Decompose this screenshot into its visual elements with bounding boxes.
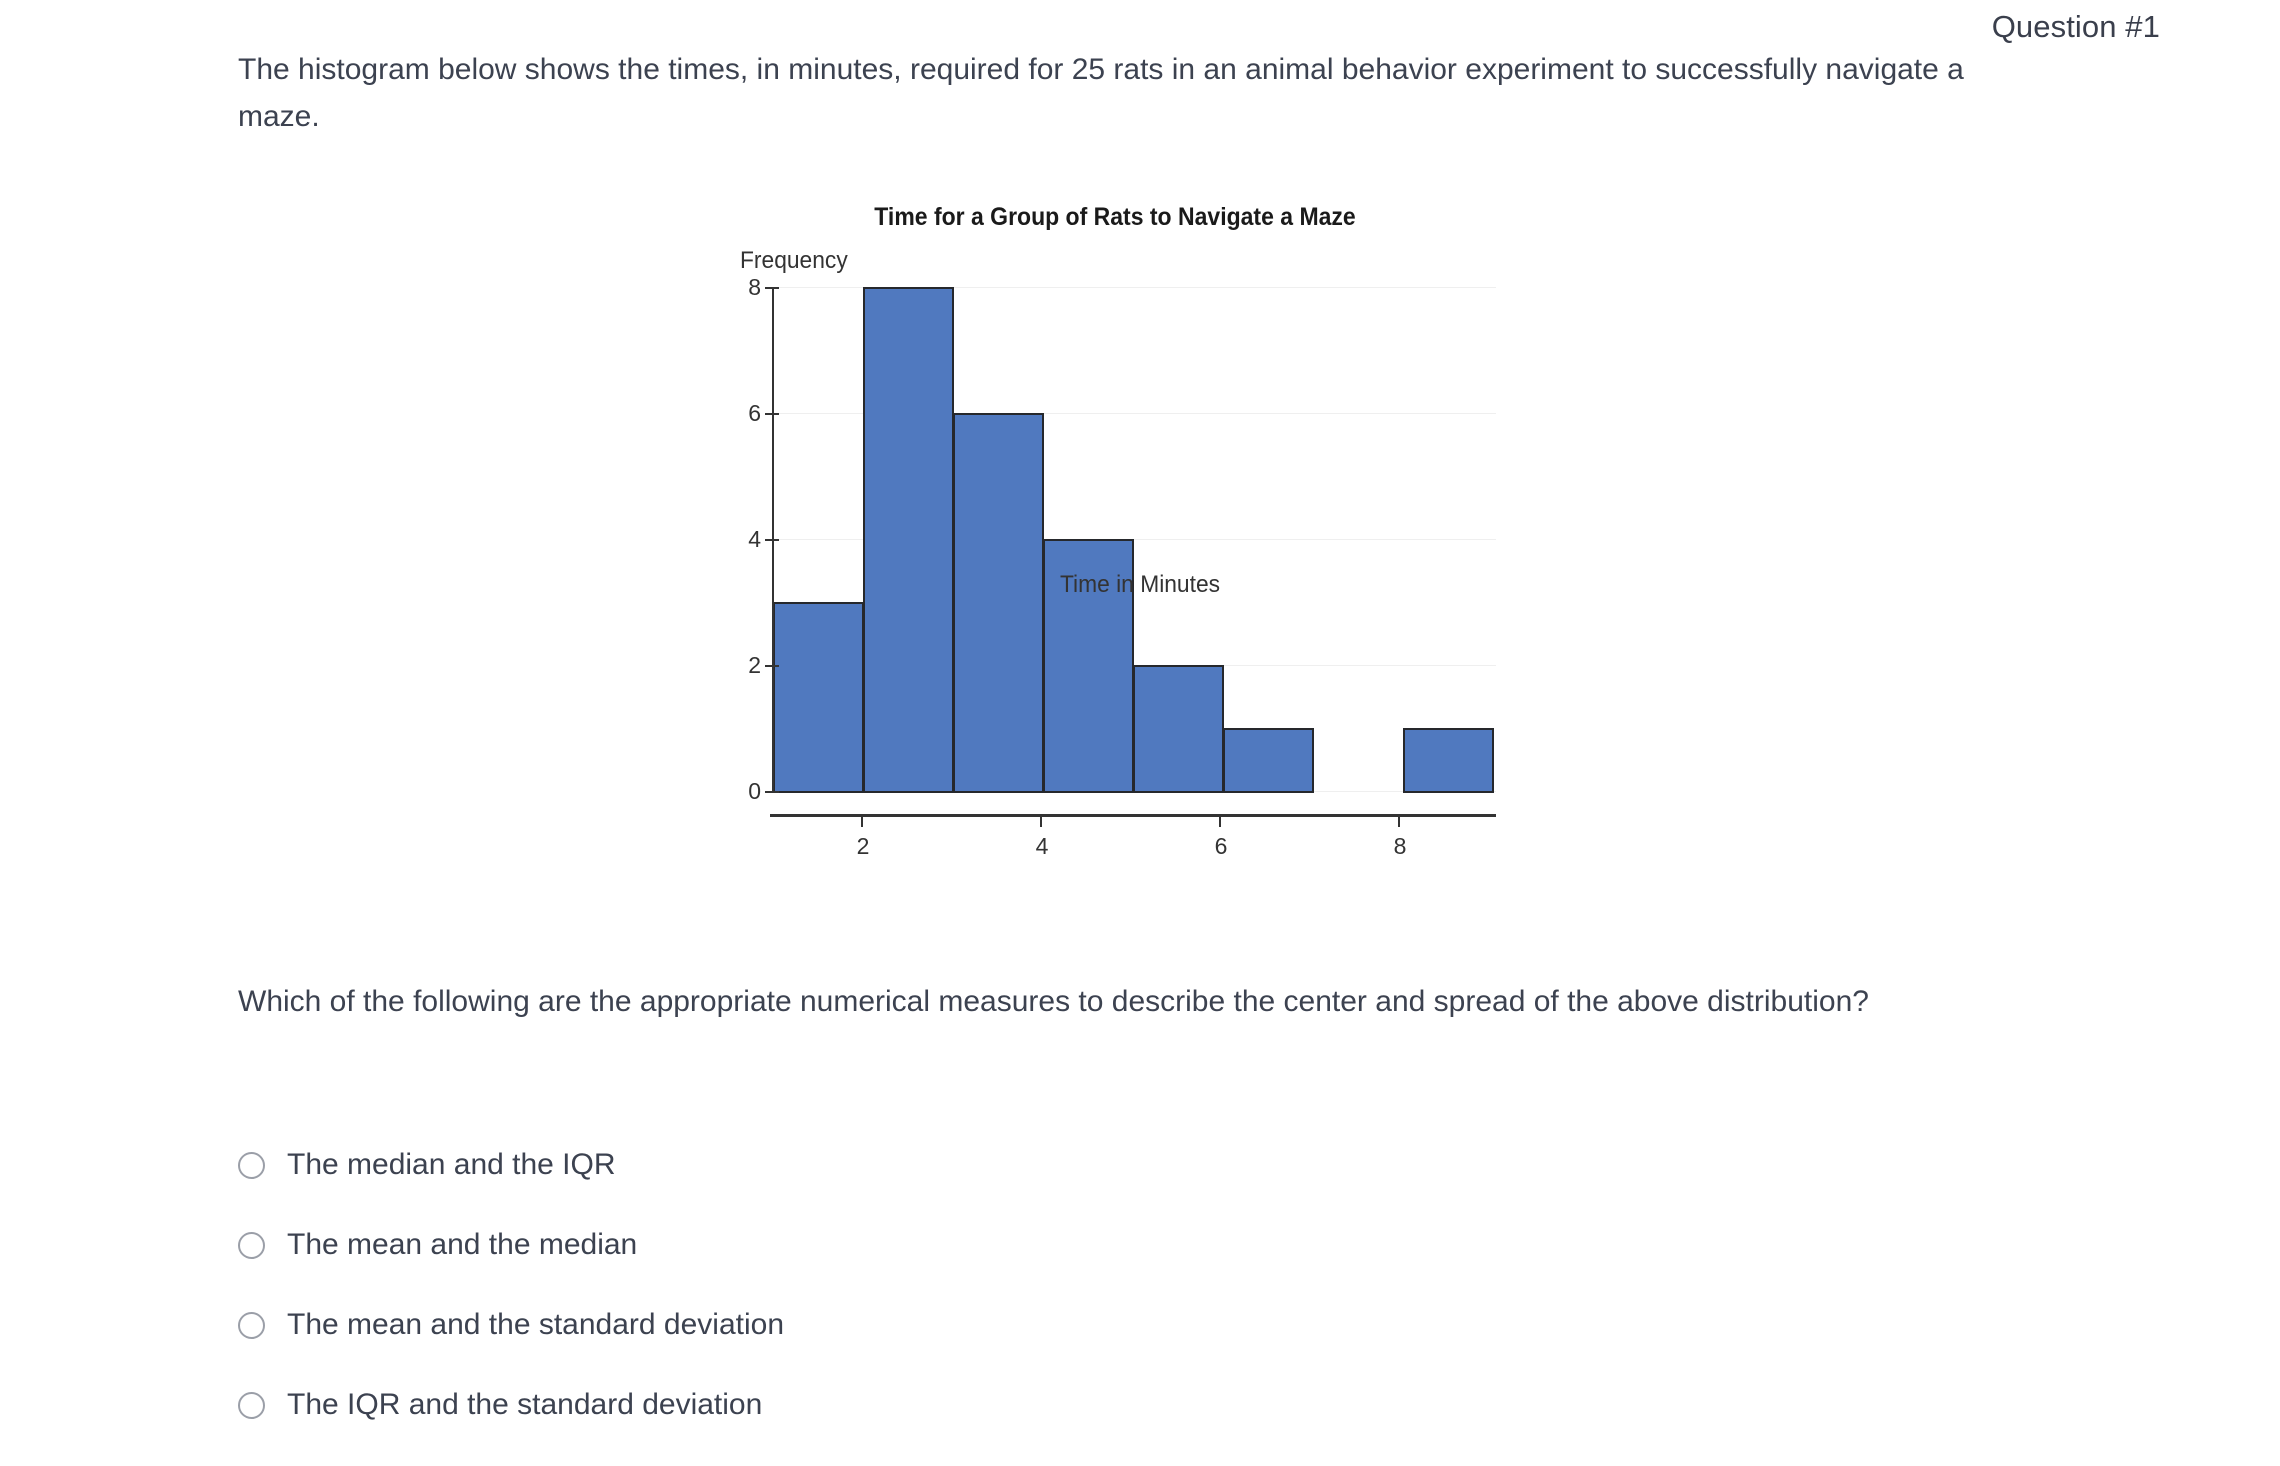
x-axis-line (770, 814, 1496, 817)
radio-button-icon[interactable] (238, 1232, 265, 1259)
answer-option-label: The IQR and the standard deviation (287, 1387, 762, 1423)
histogram-bar (863, 287, 954, 793)
answer-options-list: The median and the IQR The mean and the … (238, 1125, 1438, 1445)
answer-option-label: The mean and the standard deviation (287, 1307, 784, 1343)
answer-option-label: The median and the IQR (287, 1147, 616, 1183)
y-tick-label: 0 (713, 778, 761, 805)
y-tick-8: 8 (765, 287, 779, 289)
y-tick-label: 6 (713, 400, 761, 427)
x-tick-label: 4 (1012, 833, 1072, 860)
radio-button-icon[interactable] (238, 1152, 265, 1179)
radio-button-icon[interactable] (238, 1312, 265, 1339)
answer-option-2[interactable]: The mean and the standard deviation (238, 1285, 1438, 1365)
x-tick-2 (861, 815, 863, 827)
question-stem-text: The histogram below shows the times, in … (238, 46, 2048, 140)
answer-option-1[interactable]: The mean and the median (238, 1205, 1438, 1285)
y-tick-2: 2 (765, 665, 779, 667)
y-tick-6: 6 (765, 413, 779, 415)
histogram-bar (1223, 728, 1314, 793)
plot-area: 8 6 4 2 0 2 4 6 8 (700, 195, 1530, 895)
histogram-bar (1133, 665, 1224, 793)
y-tick-0: 0 (765, 791, 779, 793)
x-axis-title: Time in Minutes (722, 571, 1558, 599)
answer-option-3[interactable]: The IQR and the standard deviation (238, 1365, 1438, 1445)
x-tick-label: 2 (833, 833, 893, 860)
question-prompt-text: Which of the following are the appropria… (238, 978, 1958, 1025)
histogram-bar (773, 602, 864, 793)
radio-button-icon[interactable] (238, 1392, 265, 1419)
histogram-chart: Time for a Group of Rats to Navigate a M… (700, 195, 1530, 895)
histogram-bar (1403, 728, 1494, 793)
x-tick-label: 6 (1191, 833, 1251, 860)
histogram-bar (953, 413, 1044, 793)
y-tick-label: 4 (713, 526, 761, 553)
x-tick-4 (1040, 815, 1042, 827)
answer-option-0[interactable]: The median and the IQR (238, 1125, 1438, 1205)
x-tick-label: 8 (1370, 833, 1430, 860)
y-tick-label: 8 (713, 274, 761, 301)
x-tick-8 (1398, 815, 1400, 827)
y-tick-4: 4 (765, 539, 779, 541)
answer-option-label: The mean and the median (287, 1227, 637, 1263)
x-tick-6 (1219, 815, 1221, 827)
y-tick-label: 2 (713, 652, 761, 679)
